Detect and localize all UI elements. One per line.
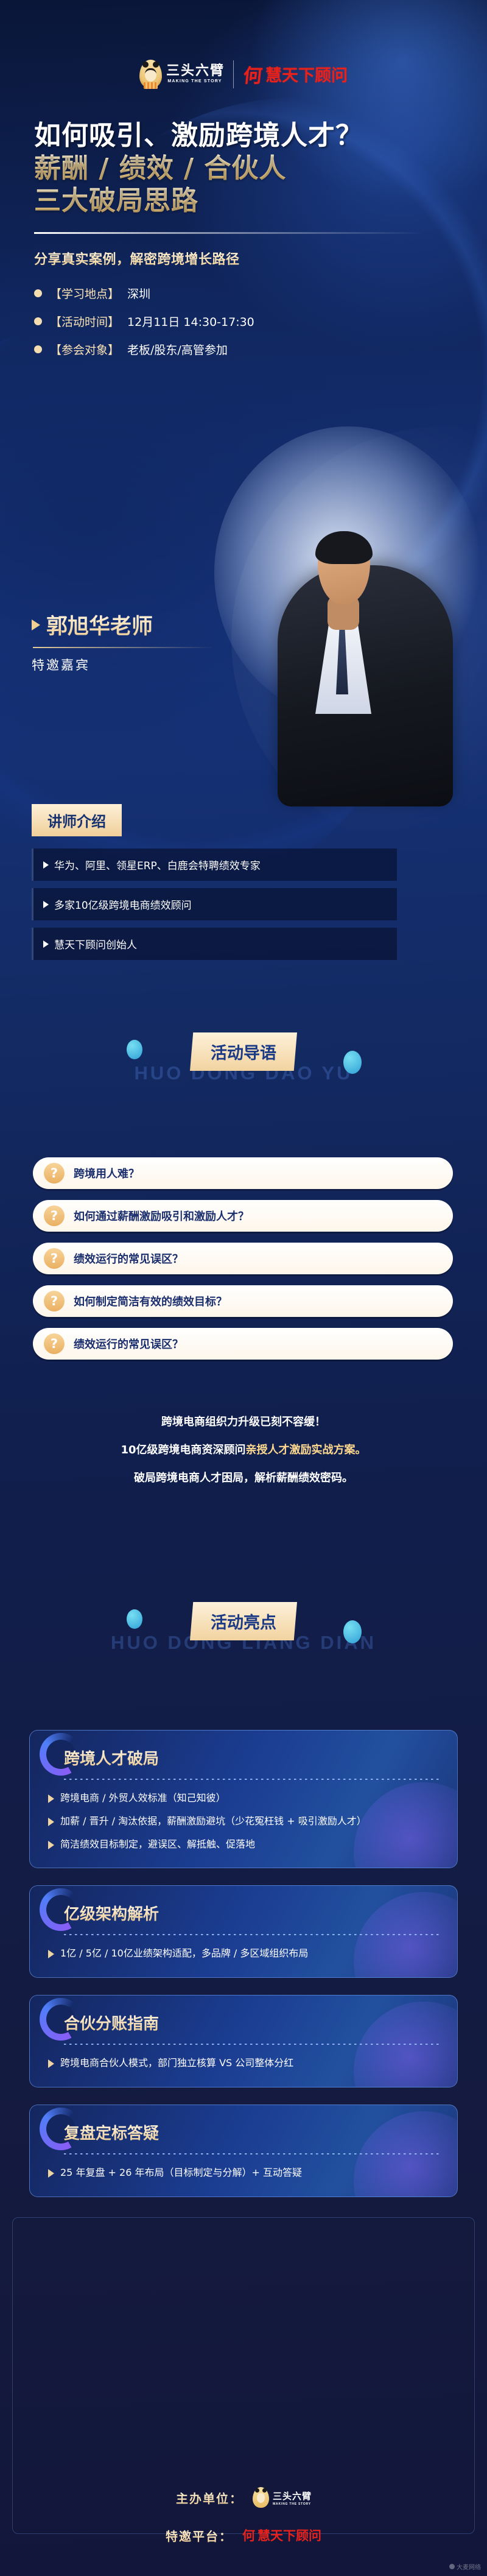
paragraph-line: 跨境电商组织力升级已刻不容缓！: [0, 1413, 487, 1429]
watermark: 大麦网络: [449, 2562, 481, 2571]
hero-section: 如何吸引、激励跨境人才？ 薪酬 / 绩效 / 合伙人 三大破局思路 分享真实案例…: [34, 119, 454, 358]
card-bullet-list: 1亿 / 5亿 / 10亿业绩架构适配，多品牌 / 多区域组织布局: [48, 1946, 441, 1961]
organizer-char-4: 臂: [302, 2490, 311, 2502]
brand-secondary-name: 慧天下顾问: [265, 62, 348, 86]
instructor-credential-text: 华为、阿里、领星ERP、白鹿会特聘绩效专家: [54, 857, 261, 872]
card-dotted-divider: [64, 2044, 441, 2045]
decor-ball-left-icon: [127, 1040, 142, 1059]
triangle-marker-icon: [32, 619, 40, 630]
opera-mask-icon: [139, 60, 162, 88]
list-item: 加薪 / 晋升 / 淘汰依据，薪酬激励避坑（少花冤枉钱 + 吸引激励人才）: [48, 1814, 441, 1829]
footer-frame: [12, 2217, 475, 2534]
list-item: 1亿 / 5亿 / 10亿业绩架构适配，多品牌 / 多区域组织布局: [48, 1946, 441, 1961]
list-item: 25 年复盘 + 26 年布局（目标制定与分解）+ 互动答疑: [48, 2165, 441, 2181]
platform-logo-mark: 何: [242, 2526, 255, 2544]
speaker-role: 特邀嘉宾: [32, 655, 233, 674]
list-item: ? 跨境用人难？: [33, 1157, 453, 1189]
paragraph-text: 跨境电商组织力升级已刻不容缓！: [161, 1416, 326, 1428]
card-bullet-text: 跨境电商合伙人模式，部门独立核算 VS 公司整体分红: [60, 2056, 293, 2071]
decor-ball-right-icon: [343, 1051, 362, 1074]
brand-primary-name: 三 头 六 臂: [166, 65, 223, 78]
highlight-card: 合伙分账指南 跨境电商合伙人模式，部门独立核算 VS 公司整体分红: [29, 1995, 458, 2087]
card-bullet-text: 简洁绩效目标制定，避误区、解抵触、促落地: [60, 1837, 255, 1852]
triangle-bullet-icon: [43, 861, 49, 869]
paragraph-text: 破局跨境电商人才困局，解析薪酬绩效密码。: [134, 1472, 353, 1484]
bullet-dot-icon: [34, 317, 42, 325]
mask-base-icon: [144, 82, 158, 89]
list-item: 华为、阿里、领星ERP、白鹿会特聘绩效专家: [32, 849, 397, 881]
triangle-bullet-icon: [48, 1841, 54, 1849]
question-mark-icon: ?: [44, 1248, 65, 1269]
speaker-name-row: 郭旭华老师: [32, 609, 233, 640]
speaker-name-block: 郭旭华老师 特邀嘉宾: [32, 609, 233, 674]
list-item: 跨境电商 / 外贸人效标准（知己知彼）: [48, 1791, 441, 1806]
speaker-name-divider: [33, 647, 214, 648]
highlight-card: 亿级架构解析 1亿 / 5亿 / 10亿业绩架构适配，多品牌 / 多区域组织布局: [29, 1885, 458, 1978]
question-mark-icon: ?: [44, 1205, 65, 1226]
list-item: ? 绩效运行的常见误区？: [33, 1328, 453, 1360]
poster-root: 三 头 六 臂 MAKING THE STORY 何 慧天下顾问 如何吸引、激励…: [0, 0, 487, 2576]
footer: 主办单位： 三 头 六 臂 MAKING THE STORY 特邀平台： 何 慧: [0, 2487, 487, 2544]
guide-question-list: ? 跨境用人难？ ? 如何通过薪酬激励吸引和激励人才？ ? 绩效运行的常见误区？…: [33, 1157, 453, 1360]
card-dotted-divider: [64, 1779, 441, 1780]
organizer-row: 主办单位： 三 头 六 臂 MAKING THE STORY: [176, 2487, 311, 2508]
list-item: ? 如何通过薪酬激励吸引和激励人才？: [33, 1200, 453, 1232]
triangle-bullet-icon: [43, 901, 49, 908]
watermark-text: 大麦网络: [457, 2562, 481, 2571]
card-title: 复盘定标答疑: [64, 2121, 159, 2144]
bullet-dot-icon: [34, 289, 42, 297]
instructor-intro-section: 讲师介绍 华为、阿里、领星ERP、白鹿会特聘绩效专家 多家10亿级跨境电商绩效顾…: [32, 804, 397, 960]
speaker-name: 郭旭华老师: [46, 609, 153, 640]
triangle-bullet-icon: [48, 2059, 54, 2068]
triangle-bullet-icon: [48, 1818, 54, 1826]
decor-ball-left-icon: [127, 1609, 142, 1629]
list-item: 多家10亿级跨境电商绩效顾问: [32, 888, 397, 920]
organizer-label: 主办单位：: [176, 2489, 243, 2507]
question-text: 绩效运行的常见误区？: [74, 1336, 183, 1352]
event-info-list: 【学习地点】 深圳 【活动时间】 12月11日 14:30-17:30 【参会对…: [34, 285, 454, 358]
paragraph-text: 10亿级跨境电商资深顾问: [121, 1444, 245, 1456]
logo-divider: [233, 60, 234, 88]
list-item: 跨境电商合伙人模式，部门独立核算 VS 公司整体分红: [48, 2056, 441, 2071]
instructor-credential-text: 多家10亿级跨境电商绩效顾问: [54, 897, 192, 912]
card-bullet-list: 25 年复盘 + 26 年布局（目标制定与分解）+ 互动答疑: [48, 2165, 441, 2181]
event-info-key: 【学习地点】: [50, 285, 119, 302]
event-info-key: 【活动时间】: [50, 313, 119, 330]
brand-char-2: 头: [181, 65, 194, 78]
organizer-char-3: 六: [292, 2490, 301, 2502]
question-text: 绩效运行的常见误区？: [74, 1251, 183, 1266]
list-item: ? 如何制定简洁有效的绩效目标？: [33, 1285, 453, 1317]
watermark-dot-icon: [449, 2564, 455, 2569]
instructor-intro-badge: 讲师介绍: [32, 804, 122, 836]
card-title: 亿级架构解析: [64, 1902, 159, 1924]
event-info-row: 【参会对象】 老板/股东/高管参加: [34, 341, 454, 358]
highlights-section-heading: 活动亮点 HUO DONG LIANG DIAN: [0, 1602, 487, 1654]
question-mark-icon: ?: [44, 1163, 65, 1184]
triangle-bullet-icon: [43, 940, 49, 948]
event-info-row: 【活动时间】 12月11日 14:30-17:30: [34, 313, 454, 330]
question-mark-icon: ?: [44, 1333, 65, 1354]
hero-subtitle: 分享真实案例，解密跨境增长路径: [34, 249, 454, 268]
event-info-value: 12月11日 14:30-17:30: [127, 313, 254, 330]
header-logos: 三 头 六 臂 MAKING THE STORY 何 慧天下顾问: [0, 60, 487, 88]
card-bullet-list: 跨境电商 / 外贸人效标准（知己知彼） 加薪 / 晋升 / 淘汰依据，薪酬激励避…: [48, 1791, 441, 1852]
paragraph-line: 10亿级跨境电商资深顾问亲授人才激励实战方案。: [0, 1441, 487, 1457]
card-bullet-list: 跨境电商合伙人模式，部门独立核算 VS 公司整体分红: [48, 2056, 441, 2071]
platform-logo: 何 慧天下顾问: [242, 2526, 321, 2544]
organizer-char-1: 三: [273, 2490, 282, 2502]
list-item: ? 绩效运行的常见误区？: [33, 1243, 453, 1274]
guide-paragraphs: 跨境电商组织力升级已刻不容缓！ 10亿级跨境电商资深顾问亲授人才激励实战方案。 …: [0, 1413, 487, 1485]
highlights-badge: 活动亮点: [190, 1602, 297, 1640]
platform-logo-name: 慧天下顾问: [258, 2526, 321, 2544]
speaker-photo: [250, 463, 476, 804]
organizer-logo: 三 头 六 臂 MAKING THE STORY: [253, 2487, 311, 2508]
brand-logo-primary: 三 头 六 臂 MAKING THE STORY: [139, 60, 223, 88]
platform-row: 特邀平台： 何 慧天下顾问: [166, 2526, 321, 2544]
title-divider: [34, 232, 424, 234]
triangle-bullet-icon: [48, 1950, 54, 1958]
paragraph-emphasis: 亲授人才激励实战方案。: [246, 1444, 366, 1456]
event-info-row: 【学习地点】 深圳: [34, 285, 454, 302]
brand-secondary-mark: 何: [242, 60, 264, 88]
guide-badge: 活动导语: [190, 1032, 297, 1071]
question-mark-icon: ?: [44, 1291, 65, 1311]
organizer-char-2: 头: [282, 2490, 292, 2502]
bullet-dot-icon: [34, 345, 42, 353]
card-bullet-text: 加薪 / 晋升 / 淘汰依据，薪酬激励避坑（少花冤枉钱 + 吸引激励人才）: [60, 1814, 366, 1829]
card-dotted-divider: [64, 2153, 441, 2154]
card-bullet-text: 1亿 / 5亿 / 10亿业绩架构适配，多品牌 / 多区域组织布局: [60, 1946, 308, 1961]
card-title: 合伙分账指南: [64, 2011, 159, 2034]
brand-char-3: 六: [195, 65, 209, 78]
card-bullet-text: 25 年复盘 + 26 年布局（目标制定与分解）+ 互动答疑: [60, 2165, 302, 2181]
organizer-logo-name: 三 头 六 臂: [273, 2490, 311, 2502]
card-dotted-divider: [64, 1934, 441, 1935]
page-title-line3: 三大破局思路: [34, 185, 454, 217]
question-text: 如何通过薪酬激励吸引和激励人才？: [74, 1208, 249, 1224]
page-title-line2: 薪酬 / 绩效 / 合伙人: [34, 152, 454, 185]
brand-logo-secondary: 何 慧天下顾问: [243, 60, 348, 88]
opera-mask-icon: [253, 2487, 269, 2508]
instructor-credential-text: 慧天下顾问创始人: [54, 936, 137, 951]
event-info-key: 【参会对象】: [50, 341, 119, 358]
question-text: 跨境用人难？: [74, 1165, 139, 1181]
brand-primary-tagline: MAKING THE STORY: [167, 79, 222, 83]
highlight-card: 复盘定标答疑 25 年复盘 + 26 年布局（目标制定与分解）+ 互动答疑: [29, 2105, 458, 2197]
card-bullet-text: 跨境电商 / 外贸人效标准（知己知彼）: [60, 1791, 226, 1806]
instructor-credentials-list: 华为、阿里、领星ERP、白鹿会特聘绩效专家 多家10亿级跨境电商绩效顾问 慧天下…: [32, 849, 397, 960]
platform-label: 特邀平台：: [166, 2527, 233, 2544]
event-info-value: 深圳: [127, 285, 150, 302]
brand-char-4: 臂: [210, 65, 223, 78]
triangle-bullet-icon: [48, 2169, 54, 2178]
paragraph-line: 破局跨境电商人才困局，解析薪酬绩效密码。: [0, 1469, 487, 1485]
highlight-cards: 跨境人才破局 跨境电商 / 外贸人效标准（知己知彼） 加薪 / 晋升 / 淘汰依…: [29, 1730, 458, 2197]
card-title: 跨境人才破局: [64, 1746, 159, 1769]
decor-ball-right-icon: [343, 1620, 362, 1643]
brand-char-1: 三: [166, 65, 180, 78]
highlight-card: 跨境人才破局 跨境电商 / 外贸人效标准（知己知彼） 加薪 / 晋升 / 淘汰依…: [29, 1730, 458, 1868]
triangle-bullet-icon: [48, 1794, 54, 1803]
guide-section-heading: 活动导语 HUO DONG DAO YU: [0, 1032, 487, 1084]
list-item: 简洁绩效目标制定，避误区、解抵触、促落地: [48, 1837, 441, 1852]
event-info-value: 老板/股东/高管参加: [127, 341, 228, 358]
page-title-line1: 如何吸引、激励跨境人才？: [34, 119, 454, 152]
organizer-logo-tagline: MAKING THE STORY: [273, 2502, 311, 2506]
list-item: 慧天下顾问创始人: [32, 928, 397, 960]
question-text: 如何制定简洁有效的绩效目标？: [74, 1293, 227, 1309]
